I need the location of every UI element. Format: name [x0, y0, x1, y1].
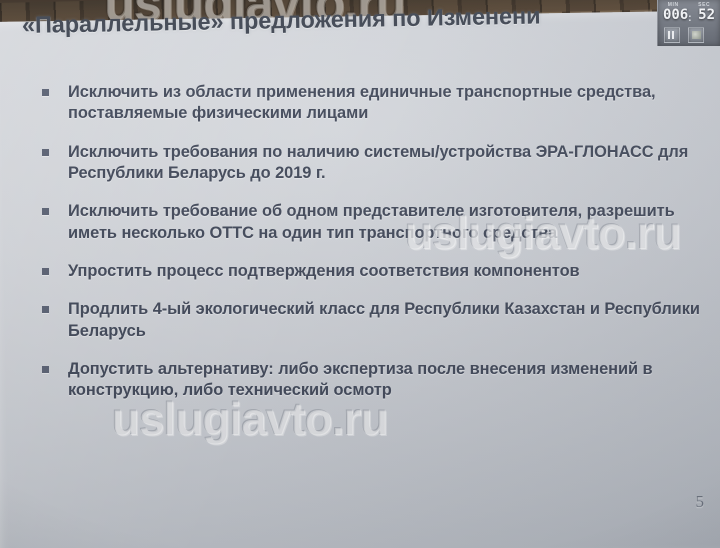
list-item-text: Исключить требование об одном представит… [68, 202, 675, 241]
square-bullet-icon [42, 306, 49, 313]
timer-mode-button[interactable] [688, 27, 704, 43]
square-bullet-icon [42, 149, 49, 156]
square-bullet-icon [42, 268, 49, 275]
timer-seconds-value: 52 [698, 7, 715, 23]
list-item: Исключить из области применения единичны… [34, 82, 706, 125]
list-item: Допустить альтернативу: либо экспертиза … [34, 359, 706, 402]
slide-content: «Параллельные» предложения по Изменени И… [8, 0, 720, 526]
timer-minutes-value: 006 [663, 7, 688, 23]
list-item-text: Продлить 4-ый экологический класс для Ре… [68, 300, 700, 339]
slide-page-number: 5 [696, 492, 705, 512]
list-item: Упростить процесс подтверждения соответс… [34, 261, 706, 282]
square-bullet-icon [42, 366, 49, 373]
list-item: Продлить 4-ый экологический класс для Ре… [34, 299, 706, 342]
timer-button-row [664, 27, 716, 43]
list-item-text: Упростить процесс подтверждения соответс… [68, 262, 580, 280]
list-item: Исключить требования по наличию системы/… [34, 142, 706, 185]
list-item-text: Исключить из области применения единичны… [68, 83, 656, 122]
timer-separator: : [688, 12, 692, 24]
list-item-text: Допустить альтернативу: либо экспертиза … [68, 360, 653, 399]
square-bullet-icon [42, 89, 49, 96]
page-title: «Параллельные» предложения по Изменени [22, 0, 720, 39]
list-item: Исключить требование об одном представит… [34, 201, 706, 244]
list-item-text: Исключить требования по наличию системы/… [68, 143, 688, 182]
timer-pause-button[interactable] [664, 27, 680, 43]
square-bullet-icon [42, 208, 49, 215]
pause-icon [668, 31, 676, 39]
countdown-timer-panel: MIN SEC 006 52 : [657, 0, 720, 46]
projected-slide-photo: uslugiavto.ru «Параллельные» предложения… [0, 0, 720, 548]
bullet-list: Исключить из области применения единичны… [34, 82, 706, 419]
mode-icon [692, 31, 701, 39]
